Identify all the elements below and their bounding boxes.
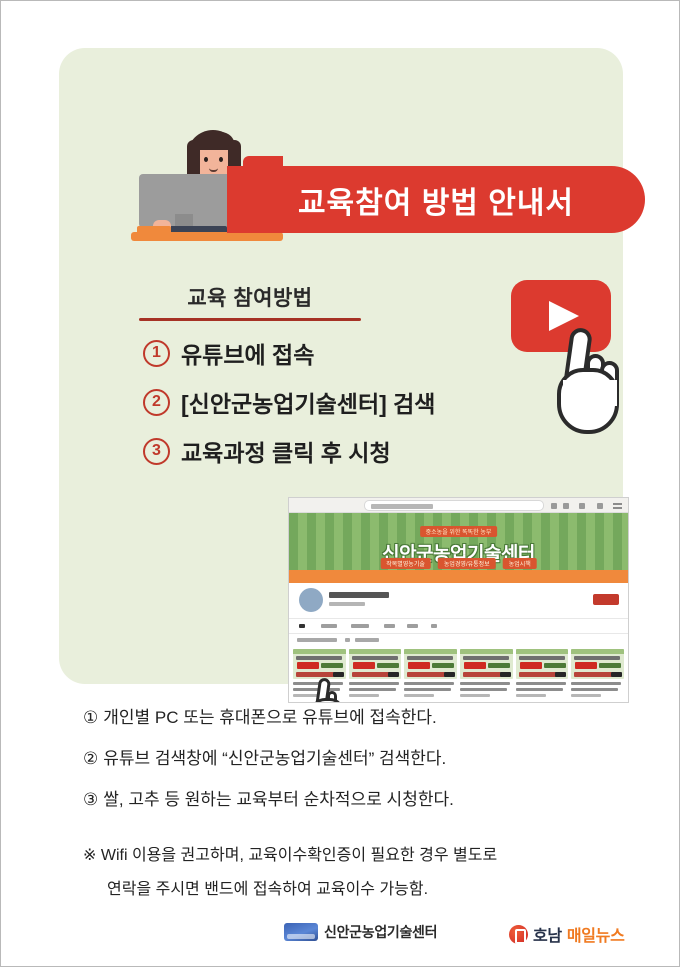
tab-shorts[interactable]: [351, 624, 369, 628]
step-number-badge: 1: [143, 340, 170, 367]
note-marker: ①: [83, 708, 98, 727]
list-item[interactable]: [571, 649, 624, 697]
channel-name-placeholder: [329, 592, 389, 598]
page-title: 교육참여 방법 안내서: [298, 178, 574, 222]
channel-handle-placeholder: [329, 602, 365, 606]
note-marker: ②: [83, 749, 98, 768]
list-item: 1 유튜브에 접속: [143, 336, 543, 370]
agency-logo: 신안군농업기술센터: [284, 922, 437, 942]
agency-logo-label: 신안군농업기술센터: [324, 922, 437, 942]
desk: [131, 232, 283, 241]
video-thumbnail[interactable]: [460, 649, 513, 679]
banner-tag-row: 작목별영농기술 농업경영/유통정보 농업시책: [380, 558, 537, 569]
honam-emblem-icon: [509, 925, 528, 944]
toolbar-icon-2[interactable]: [563, 503, 569, 509]
list-item: ②유튜브 검색창에 “신안군농업기술센터” 검색한다.: [83, 744, 603, 769]
step-number-badge: 3: [143, 438, 170, 465]
video-meta: [349, 682, 402, 697]
avatar: [299, 588, 323, 612]
list-item[interactable]: [404, 649, 457, 697]
play-all-icon[interactable]: [345, 638, 350, 642]
step-number-badge: 2: [143, 389, 170, 416]
press-logo-label-b: 매일뉴스: [567, 922, 625, 946]
main-green-card: 교육참여 방법 안내서 교육 참여방법 1 유튜브에 접속 2 [신안군농업기술…: [59, 48, 623, 684]
caution-note: ※ Wifi 이용을 권고하며, 교육이수확인증이 필요한 경우 별도로 연락을…: [83, 841, 623, 899]
video-thumbnail[interactable]: [293, 649, 346, 679]
note-marker: ③: [83, 790, 98, 809]
tab-live[interactable]: [384, 624, 395, 628]
list-item: ①개인별 PC 또는 휴대폰으로 유튜브에 접속한다.: [83, 703, 603, 728]
list-item: 2 [신안군농업기술센터] 검색: [143, 385, 543, 419]
channel-banner: 중소농을 위한 똑똑한 농부 신안군농업기술센터 작목별영농기술 농업경영/유통…: [289, 513, 628, 583]
press-logo: 호남 매일뉴스: [509, 922, 625, 946]
caution-line-2: 연락을 주시면 밴드에 접속하여 교육이수 가능함.: [83, 875, 623, 899]
pointing-hand-cursor-icon: [309, 678, 349, 703]
download-icon[interactable]: [597, 503, 603, 509]
channel-tabs: [289, 619, 628, 634]
press-logo-label-a: 호남: [533, 922, 562, 946]
subscribe-button[interactable]: [593, 594, 619, 605]
video-meta: [460, 682, 513, 697]
filter-latest[interactable]: [297, 638, 337, 642]
youtube-channel-screenshot: 중소농을 위한 똑똑한 농부 신안군농업기술센터 작목별영농기술 농업경영/유통…: [288, 497, 629, 703]
list-item[interactable]: [516, 649, 569, 697]
note-text: 쌀, 고추 등 원하는 교육부터 순차적으로 시청한다.: [103, 790, 454, 809]
banner-tag: 농업시책: [503, 558, 537, 569]
note-text: 개인별 PC 또는 휴대폰으로 유튜브에 접속한다.: [103, 708, 436, 727]
list-item[interactable]: [349, 649, 402, 697]
eye-left: [204, 157, 208, 162]
browser-toolbar: [289, 498, 628, 513]
video-grid: [289, 646, 628, 700]
video-thumbnail[interactable]: [571, 649, 624, 679]
shinan-emblem-icon: [284, 923, 318, 941]
note-text: 유튜브 검색창에 “신안군농업기술센터” 검색한다.: [103, 749, 446, 768]
pointing-hand-cursor-icon: [553, 328, 629, 438]
step-label: 교육과정 클릭 후 시청: [181, 434, 391, 468]
video-meta: [516, 682, 569, 697]
address-bar[interactable]: [364, 500, 544, 511]
instructions-list: ①개인별 PC 또는 휴대폰으로 유튜브에 접속한다. ②유튜브 검색창에 “신…: [83, 703, 603, 826]
section-heading: 교육 참여방법: [139, 282, 361, 312]
video-thumbnail[interactable]: [516, 649, 569, 679]
tab-playlists[interactable]: [407, 624, 418, 628]
steps-list: 1 유튜브에 접속 2 [신안군농업기술센터] 검색 3 교육과정 클릭 후 시…: [143, 336, 543, 483]
tab-videos[interactable]: [321, 624, 337, 628]
youtube-play-area: [511, 280, 661, 440]
channel-header: [289, 583, 628, 619]
banner-small-tag: 중소농을 위한 똑똑한 농부: [420, 526, 498, 537]
video-meta: [404, 682, 457, 697]
menu-icon[interactable]: [613, 503, 622, 509]
list-item[interactable]: [460, 649, 513, 697]
eye-right: [219, 157, 223, 162]
video-meta: [571, 682, 624, 697]
caution-line-1: ※ Wifi 이용을 권고하며, 교육이수확인증이 필요한 경우 별도로: [83, 841, 623, 865]
step-label: [신안군농업기술센터] 검색: [181, 385, 435, 419]
video-thumbnail[interactable]: [349, 649, 402, 679]
video-filter-row: [289, 634, 628, 646]
list-item: ③쌀, 고추 등 원하는 교육부터 순차적으로 시청한다.: [83, 785, 603, 810]
section-heading-underline: [139, 318, 361, 321]
play-triangle-icon: [549, 301, 579, 331]
banner-ground-strip: [289, 570, 628, 583]
refresh-icon[interactable]: [579, 503, 585, 509]
banner-tag: 농업경영/유통정보: [438, 558, 496, 569]
section-heading-block: 교육 참여방법: [139, 282, 361, 321]
tab-home[interactable]: [299, 624, 305, 628]
step-label: 유튜브에 접속: [181, 336, 314, 370]
poster-title-banner: 교육참여 방법 안내서: [227, 166, 645, 233]
poster-page: 교육참여 방법 안내서 교육 참여방법 1 유튜브에 접속 2 [신안군농업기술…: [0, 0, 680, 967]
hand-blend: [563, 380, 617, 406]
toolbar-icon-1[interactable]: [551, 503, 557, 509]
video-thumbnail[interactable]: [404, 649, 457, 679]
banner-tag: 작목별영농기술: [380, 558, 431, 569]
search-icon[interactable]: [431, 624, 437, 628]
list-item: 3 교육과정 클릭 후 시청: [143, 434, 543, 468]
filter-popular[interactable]: [355, 638, 379, 642]
